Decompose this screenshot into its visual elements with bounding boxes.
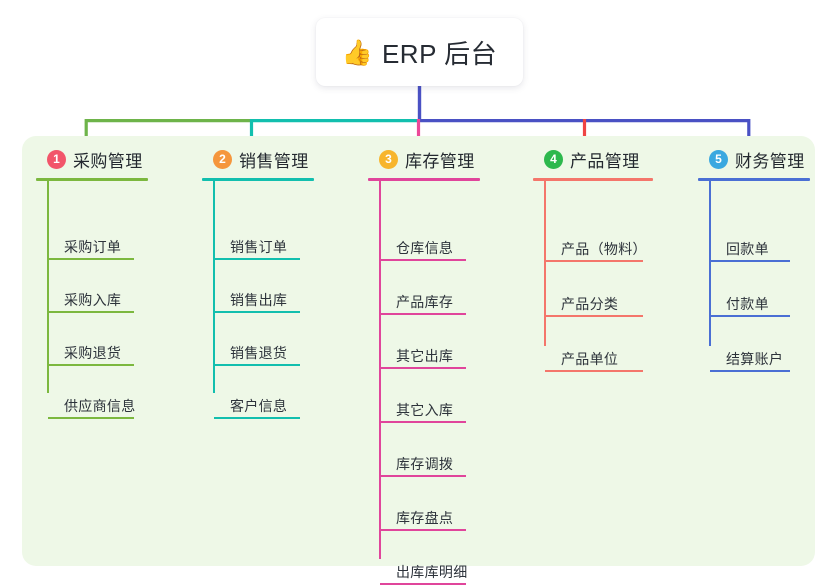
column-items-3: 仓库信息产品库存其它出库其它入库库存调拨库存盘点出库库明细 [368,181,518,585]
leaf-item-rule [214,417,300,419]
column-4: 4产品管理产品（物料）产品分类产品单位 [533,146,691,372]
leaf-item[interactable]: 其它入库 [368,369,518,423]
leaf-item-label: 其它入库 [396,400,453,420]
leaf-item-label: 产品单位 [561,349,618,369]
leaf-item-label: 出库库明细 [396,562,468,582]
leaf-item-label: 其它出库 [396,346,453,366]
leaf-item-label: 结算账户 [726,349,783,369]
leaf-item-label: 产品分类 [561,294,618,314]
column-header-4[interactable]: 4产品管理 [533,146,691,172]
leaf-item-rule [545,370,643,372]
column-2: 2销售管理销售订单销售出库销售退货客户信息 [202,146,352,419]
leaf-item-label: 销售退货 [230,343,287,363]
root-title: ERP 后台 [382,34,497,71]
column-header-5[interactable]: 5财务管理 [698,146,839,172]
leaf-item[interactable]: 采购订单 [36,207,186,260]
column-items-4: 产品（物料）产品分类产品单位 [533,181,691,372]
leaf-item-label: 库存盘点 [396,508,453,528]
thumbs-up-icon: 👍 [342,41,373,66]
column-badge-4: 4 [544,150,563,169]
column-header-2[interactable]: 2销售管理 [202,146,352,172]
column-header-1[interactable]: 1采购管理 [36,146,186,172]
leaf-item[interactable]: 库存调拨 [368,423,518,477]
leaf-item-rule [48,417,134,419]
column-badge-5: 5 [709,150,728,169]
leaf-item[interactable]: 销售出库 [202,260,352,313]
leaf-item[interactable]: 产品库存 [368,261,518,315]
root-node-content: 👍 ERP 后台 [342,34,497,71]
leaf-item[interactable]: 产品分类 [533,262,691,317]
leaf-item[interactable]: 其它出库 [368,315,518,369]
column-title-3: 库存管理 [405,147,475,172]
leaf-item[interactable]: 付款单 [698,262,839,317]
leaf-item[interactable]: 客户信息 [202,366,352,419]
leaf-item[interactable]: 库存盘点 [368,477,518,531]
column-1: 1采购管理采购订单采购入库采购退货供应商信息 [36,146,186,419]
column-items-1: 采购订单采购入库采购退货供应商信息 [36,181,186,419]
leaf-item-label: 回款单 [726,239,769,259]
column-badge-1: 1 [47,150,66,169]
leaf-item[interactable]: 销售退货 [202,313,352,366]
leaf-item[interactable]: 结算账户 [698,317,839,372]
leaf-item-rule [380,583,466,585]
diagram-canvas: 👍 ERP 后台 1采购管理采购订单采购入库采购退货供应商信息2销售管理销售订单… [0,0,839,588]
leaf-item-label: 采购退货 [64,343,121,363]
leaf-item-label: 仓库信息 [396,238,453,258]
column-badge-2: 2 [213,150,232,169]
column-badge-3: 3 [379,150,398,169]
leaf-item-label: 客户信息 [230,396,287,416]
leaf-item-label: 供应商信息 [64,396,136,416]
column-title-2: 销售管理 [239,147,309,172]
leaf-item-rule [710,370,790,372]
leaf-item[interactable]: 产品（物料） [533,207,691,262]
column-title-1: 采购管理 [73,147,143,172]
leaf-item[interactable]: 供应商信息 [36,366,186,419]
leaf-item[interactable]: 产品单位 [533,317,691,372]
leaf-item-label: 采购订单 [64,237,121,257]
root-node[interactable]: 👍 ERP 后台 [316,18,523,86]
leaf-item-label: 产品（物料） [561,239,647,259]
leaf-item[interactable]: 销售订单 [202,207,352,260]
leaf-item-label: 销售出库 [230,290,287,310]
leaf-item[interactable]: 出库库明细 [368,531,518,585]
column-3: 3库存管理仓库信息产品库存其它出库其它入库库存调拨库存盘点出库库明细 [368,146,518,585]
leaf-item-label: 付款单 [726,294,769,314]
leaf-item[interactable]: 回款单 [698,207,839,262]
column-header-3[interactable]: 3库存管理 [368,146,518,172]
leaf-item[interactable]: 仓库信息 [368,207,518,261]
leaf-item-label: 销售订单 [230,237,287,257]
column-items-5: 回款单付款单结算账户 [698,181,839,372]
leaf-item[interactable]: 采购入库 [36,260,186,313]
leaf-item[interactable]: 采购退货 [36,313,186,366]
leaf-item-label: 库存调拨 [396,454,453,474]
leaf-item-label: 产品库存 [396,292,453,312]
column-title-4: 产品管理 [570,147,640,172]
leaf-item-label: 采购入库 [64,290,121,310]
column-items-2: 销售订单销售出库销售退货客户信息 [202,181,352,419]
column-title-5: 财务管理 [735,147,805,172]
column-5: 5财务管理回款单付款单结算账户 [698,146,839,372]
